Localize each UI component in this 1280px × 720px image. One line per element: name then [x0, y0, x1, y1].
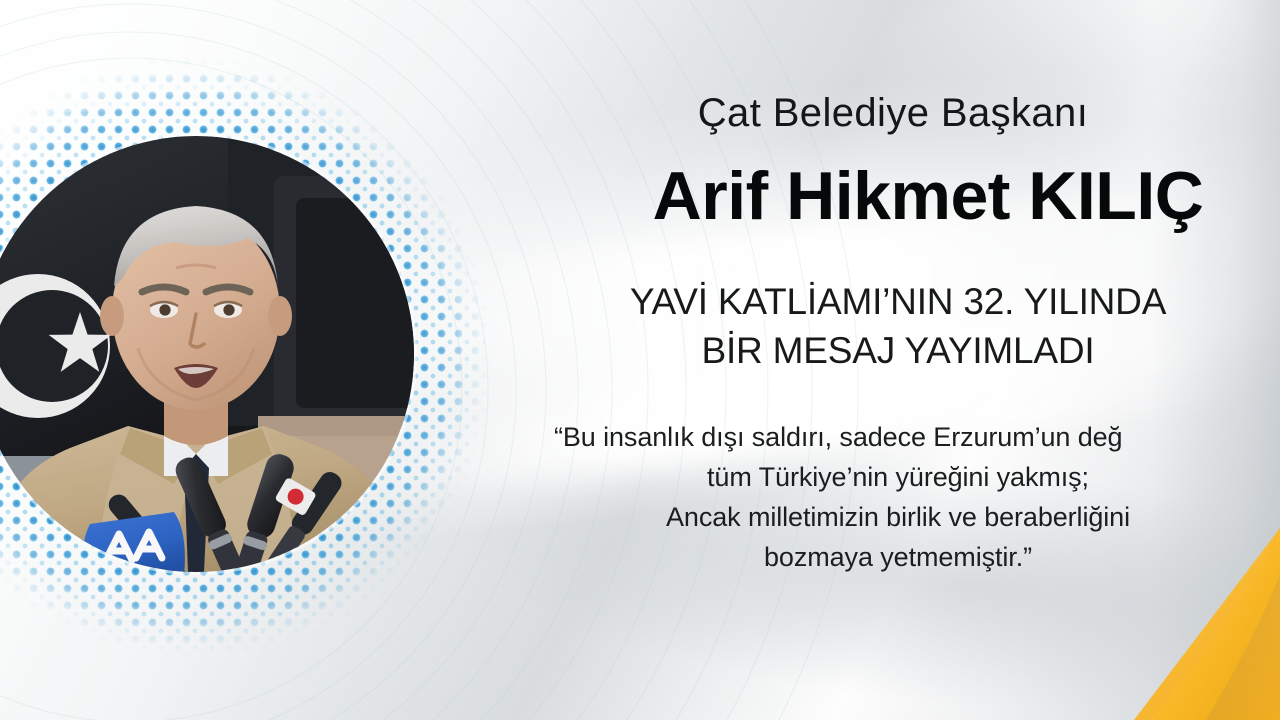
kicker-title: Çat Belediye Başkanı [548, 92, 1238, 134]
headline-line-1: YAVİ KATLİAMI’NIN 32. YILINDA [548, 278, 1248, 327]
quote-line-3: Ancak milletimizin birlik ve beraberliği… [548, 498, 1248, 538]
person-name: Arif Hikmet KILIÇ [548, 160, 1280, 232]
quote-line-1: “Bu insanlık dışı saldırı, sadece Erzuru… [554, 418, 1248, 458]
text-content: Çat Belediye Başkanı Arif Hikmet KILIÇ Y… [548, 0, 1280, 720]
quote-line-4: bozmaya yetmemiştir.” [548, 538, 1248, 578]
headline-line-2: BİR MESAJ YAYIMLADI [548, 327, 1248, 376]
headline: YAVİ KATLİAMI’NIN 32. YILINDA BİR MESAJ … [548, 278, 1248, 376]
quote-block: “Bu insanlık dışı saldırı, sadece Erzuru… [548, 418, 1248, 578]
quote-line-2: tüm Türkiye’nin yüreğini yakmış; [548, 458, 1248, 498]
news-graphic-card: Çat Belediye Başkanı Arif Hikmet Kılıç b… [0, 0, 1280, 720]
